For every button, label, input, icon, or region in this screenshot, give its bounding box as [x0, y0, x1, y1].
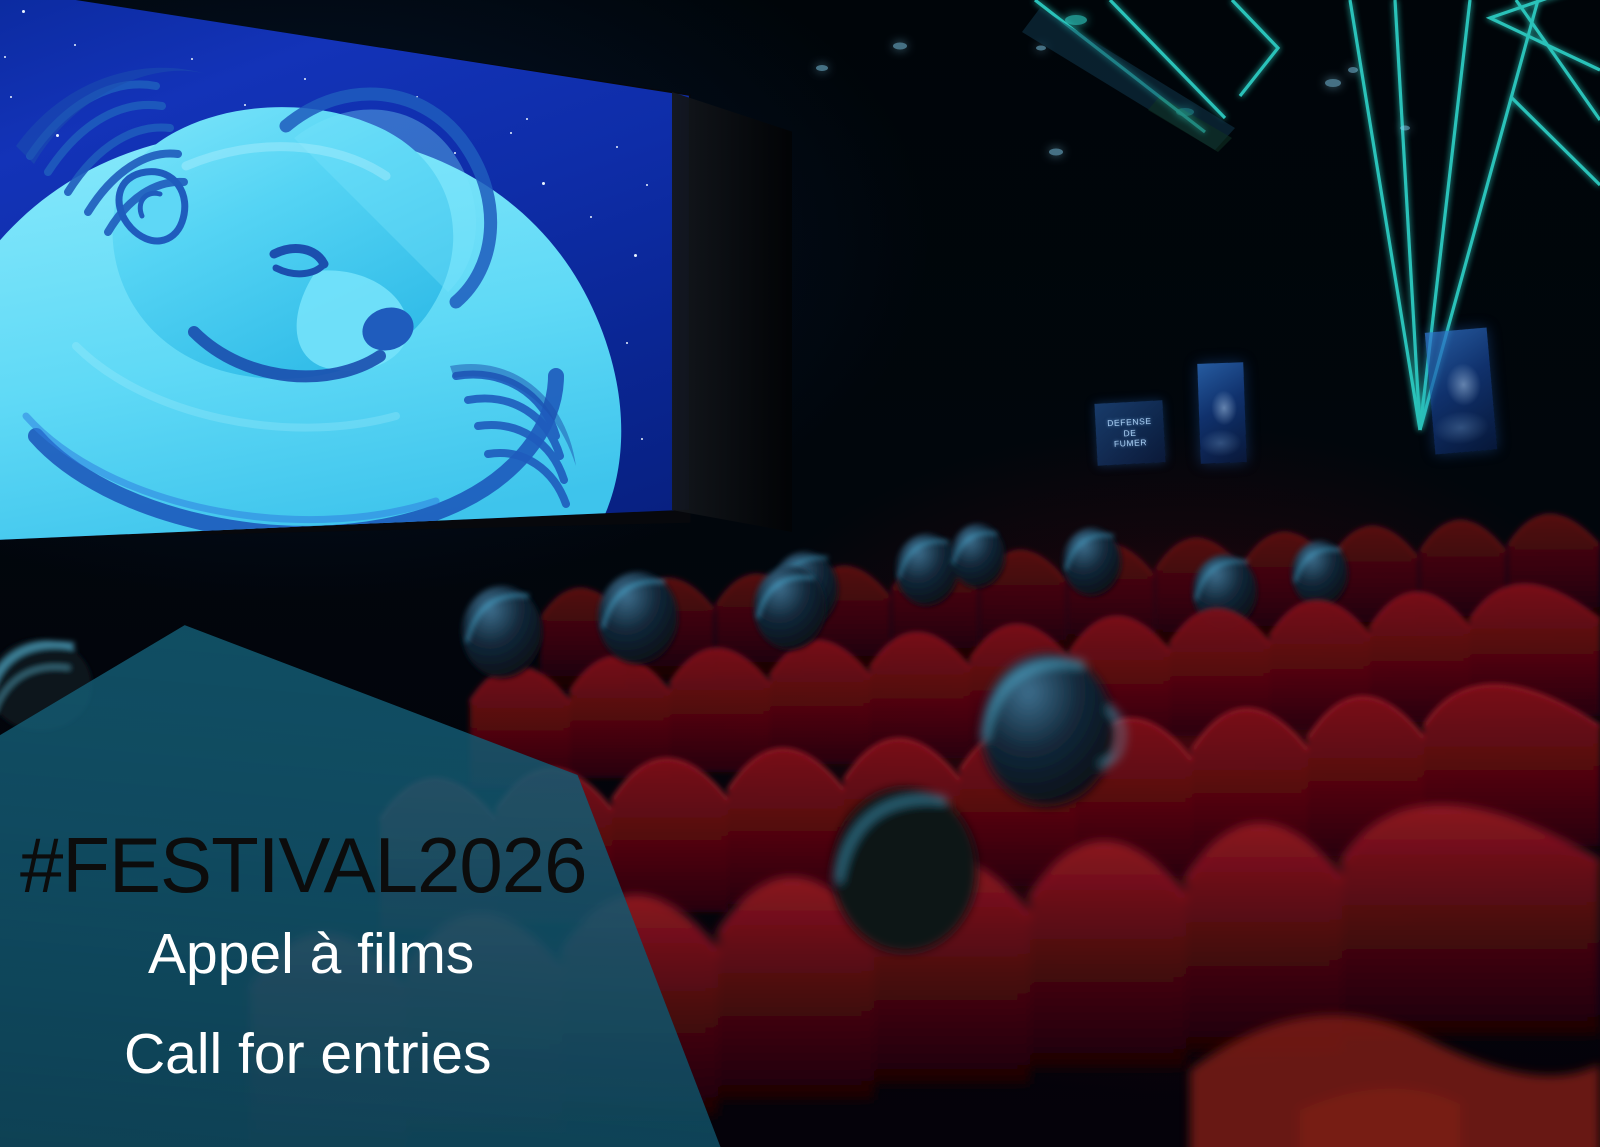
polar-bear-illustration — [0, 16, 696, 546]
campaign-hashtag: #FESTIVAL2026 — [20, 826, 587, 904]
screen-masking-curtain — [672, 92, 792, 532]
no-smoking-line-1: DEFENSE — [1107, 417, 1152, 428]
framed-film-poster-left — [1197, 362, 1246, 464]
audience-head-near — [833, 788, 977, 952]
tagline-french: Appel à films — [148, 926, 474, 983]
no-smoking-sign: DEFENSE DE FUMER — [1094, 400, 1165, 465]
framed-film-poster-right — [1425, 328, 1497, 455]
festival-call-for-entries-poster: DEFENSE DE FUMER — [0, 0, 1600, 1147]
poster-text-block: #FESTIVAL2026 Appel à films Call for ent… — [0, 826, 720, 1126]
tagline-english: Call for entries — [124, 1026, 491, 1083]
no-smoking-line-2: DE — [1123, 428, 1136, 437]
no-smoking-line-3: FUMER — [1114, 438, 1148, 448]
cinema-screen — [0, 0, 696, 546]
